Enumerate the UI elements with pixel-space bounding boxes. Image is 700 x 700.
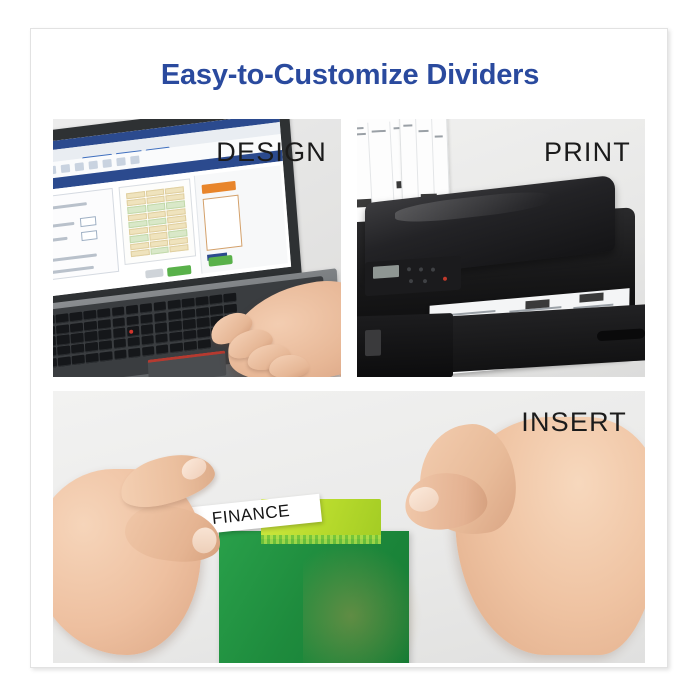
- printer-lcd-display: [373, 265, 399, 279]
- hand-shadow-through-tab: [303, 541, 423, 663]
- hand-holding-label: [53, 443, 243, 663]
- printer-button[interactable]: [409, 279, 413, 283]
- printer-power-button[interactable]: [443, 277, 447, 281]
- label-template-preview: [119, 178, 197, 265]
- panel-print: PRINT: [357, 119, 645, 377]
- printer-front-panel: [357, 313, 453, 377]
- panel-label-print: PRINT: [544, 137, 631, 168]
- hand-holding-divider: [411, 399, 645, 663]
- panel-label-insert: INSERT: [521, 407, 627, 438]
- product-image-canvas: Easy-to-Customize Dividers: [0, 0, 700, 700]
- preview-highlight: [202, 181, 236, 194]
- thumbnail: [178, 454, 210, 483]
- page-title: Easy-to-Customize Dividers: [31, 59, 669, 92]
- printer-button[interactable]: [407, 267, 411, 271]
- printer-button[interactable]: [419, 267, 423, 271]
- label-template-grid: [126, 186, 189, 257]
- printer-control-panel[interactable]: [365, 256, 461, 297]
- product-card: Easy-to-Customize Dividers: [30, 28, 668, 668]
- fingernail: [189, 524, 220, 557]
- panel-design: DESIGN: [53, 119, 341, 377]
- panel-insert: FINANCE INSERT: [53, 391, 645, 663]
- printer-button[interactable]: [423, 279, 427, 283]
- memory-card-slot[interactable]: [365, 330, 381, 357]
- app-secondary-button[interactable]: [145, 268, 163, 278]
- app-settings-panel: [53, 188, 119, 282]
- printer-button[interactable]: [431, 267, 435, 271]
- hand-typing: [183, 259, 341, 377]
- preview-thumbnail: [203, 195, 243, 251]
- tray-handle[interactable]: [597, 328, 645, 341]
- thumbnail: [406, 484, 441, 515]
- panel-label-design: DESIGN: [216, 137, 327, 168]
